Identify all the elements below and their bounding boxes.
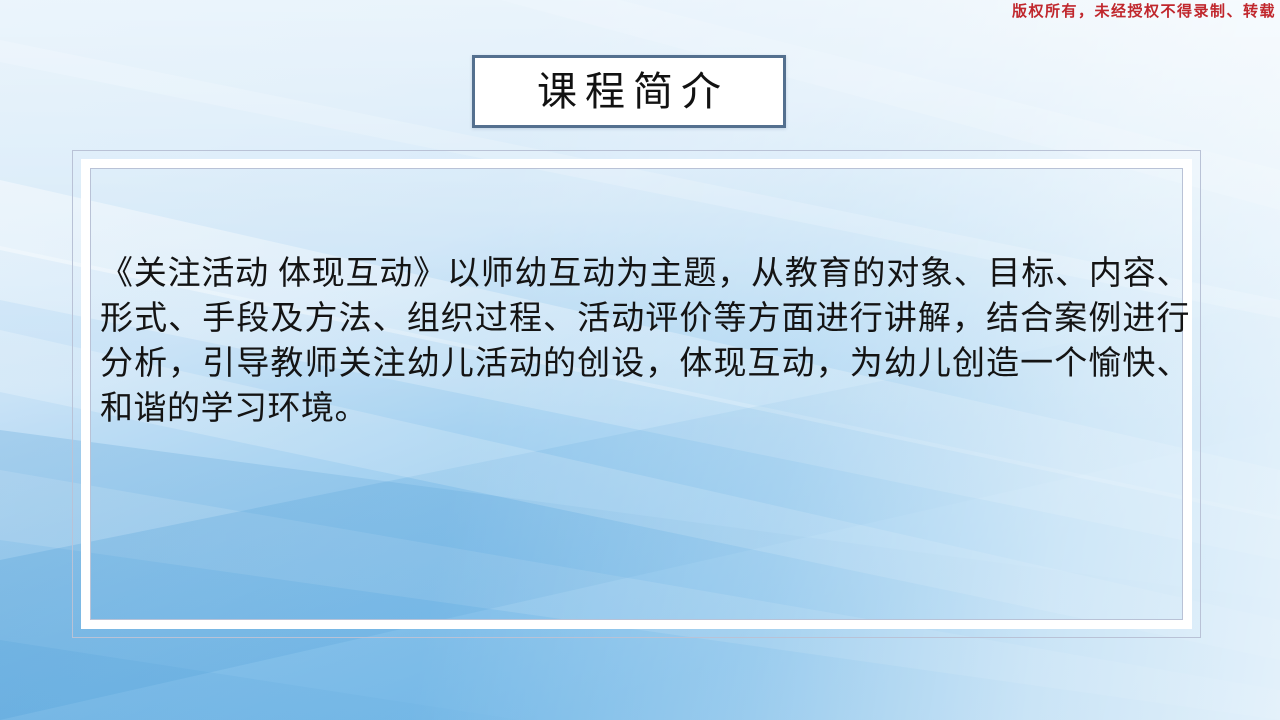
title-plaque: 课程简介 [472,55,786,128]
page-title: 课程简介 [529,72,729,112]
presentation-slide: 版权所有，未经授权不得录制、转载 课程简介 《关注活动 体现互动》以师幼互动为主… [0,0,1280,720]
copyright-notice: 版权所有，未经授权不得录制、转载 [1012,3,1276,21]
course-description-paragraph: 《关注活动 体现互动》以师幼互动为主题，从教育的对象、目标、内容、形式、手段及方… [100,252,1190,432]
